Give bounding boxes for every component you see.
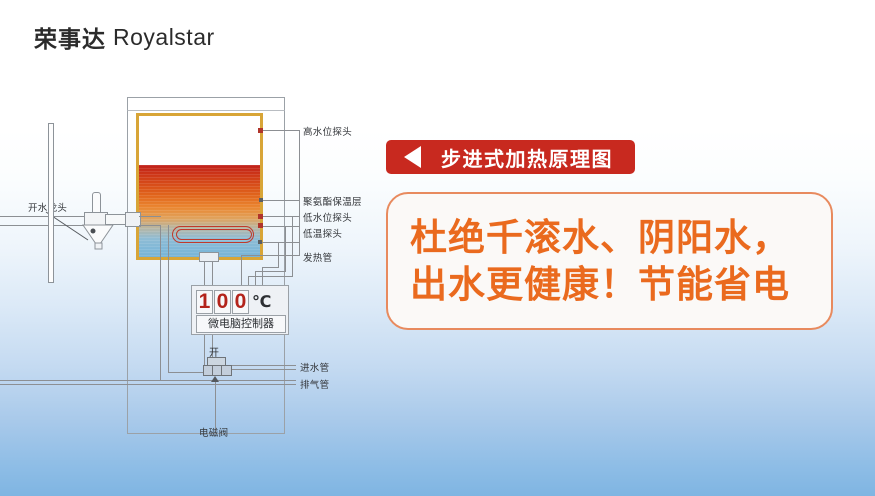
label-low-level-sensor: 低水位探头 (303, 210, 352, 224)
section-banner: 步进式加热原理图 (386, 140, 635, 174)
tank-bottom-outlet (199, 252, 219, 262)
leader-low-temp (262, 226, 300, 227)
vent-pipe-line (0, 380, 296, 381)
callout-line-2: 出水更健康！节能省电 (410, 261, 831, 308)
low-temp-sensor-marker (258, 223, 263, 228)
leader-low-level (262, 216, 300, 217)
controller-panel[interactable]: 1 0 0 ℃ 微电脑控制器 (191, 285, 289, 335)
wire-high-level-v (299, 130, 300, 255)
heating-element-coil-inner (176, 229, 252, 240)
wire-heater-h (262, 267, 279, 268)
triangle-left-icon (404, 146, 421, 168)
brand-name-en: Royalstar (113, 24, 215, 51)
insulation-pointer-marker (259, 198, 263, 202)
high-level-sensor-marker (258, 128, 263, 133)
label-solenoid-valve: 电磁阀 (199, 425, 228, 439)
label-heating-element: 发热管 (303, 250, 332, 264)
cabinet-top-panel (127, 97, 285, 111)
digit-2: 0 (214, 290, 231, 314)
digit-1: 1 (196, 290, 213, 314)
label-vent-pipe: 排气管 (300, 377, 329, 391)
wire-low-level-v (292, 216, 293, 276)
water-temperature-gradient (139, 165, 260, 257)
outlet-pipe-b (168, 225, 169, 372)
heating-principle-diagram: 1 0 0 ℃ 微电脑控制器 开 高水位探头 聚氨酯保温层 低水位探头 低温探头… (0, 80, 400, 460)
marketing-callout: 杜绝千滚水、阴阳水， 出水更健康！节能省电 (386, 192, 833, 330)
low-level-sensor-marker (258, 214, 263, 219)
label-inlet-pipe: 进水管 (300, 360, 329, 374)
digit-3: 0 (232, 290, 249, 314)
label-low-temp-sensor: 低温探头 (303, 226, 342, 240)
valve-flow-arrow-icon (211, 376, 219, 382)
wire-low-temp-h (255, 271, 286, 272)
label-insulation-layer: 聚氨酯保温层 (303, 194, 362, 208)
heating-element-marker (258, 240, 262, 244)
leader-high-level (262, 130, 300, 131)
inlet-pipe-line-2 (230, 369, 296, 370)
sensor-tube (48, 123, 54, 283)
inlet-pipe-line (230, 365, 296, 366)
wire-high-level-h (241, 255, 300, 256)
leader-faucet (44, 210, 114, 260)
valve-body-right (221, 365, 232, 376)
temperature-display: 1 0 0 ℃ (196, 289, 284, 314)
brand-name-cn: 荣事达 (34, 20, 106, 54)
controller-title: 微电脑控制器 (196, 315, 286, 333)
slide-canvas: 荣事达 Royalstar (0, 0, 875, 496)
wire-bus-4 (262, 267, 263, 286)
outlet-pipe-a (160, 225, 161, 380)
faucet-tank-link-bottom (139, 225, 161, 226)
leader-insulation (262, 200, 300, 201)
brand-logo: 荣事达 Royalstar (34, 20, 215, 54)
banner-title: 步进式加热原理图 (441, 143, 613, 172)
faucet-tank-link-top (139, 216, 161, 217)
temperature-unit: ℃ (252, 292, 271, 311)
callout-line-1: 杜绝千滚水、阴阳水， (410, 214, 831, 261)
label-high-level-sensor: 高水位探头 (303, 124, 352, 138)
wire-low-temp-v (285, 226, 286, 271)
wire-bus-1 (241, 255, 242, 286)
leader-heating-element (262, 242, 300, 243)
wire-bus-3 (255, 271, 256, 286)
vent-pipe-line-2 (0, 384, 296, 385)
